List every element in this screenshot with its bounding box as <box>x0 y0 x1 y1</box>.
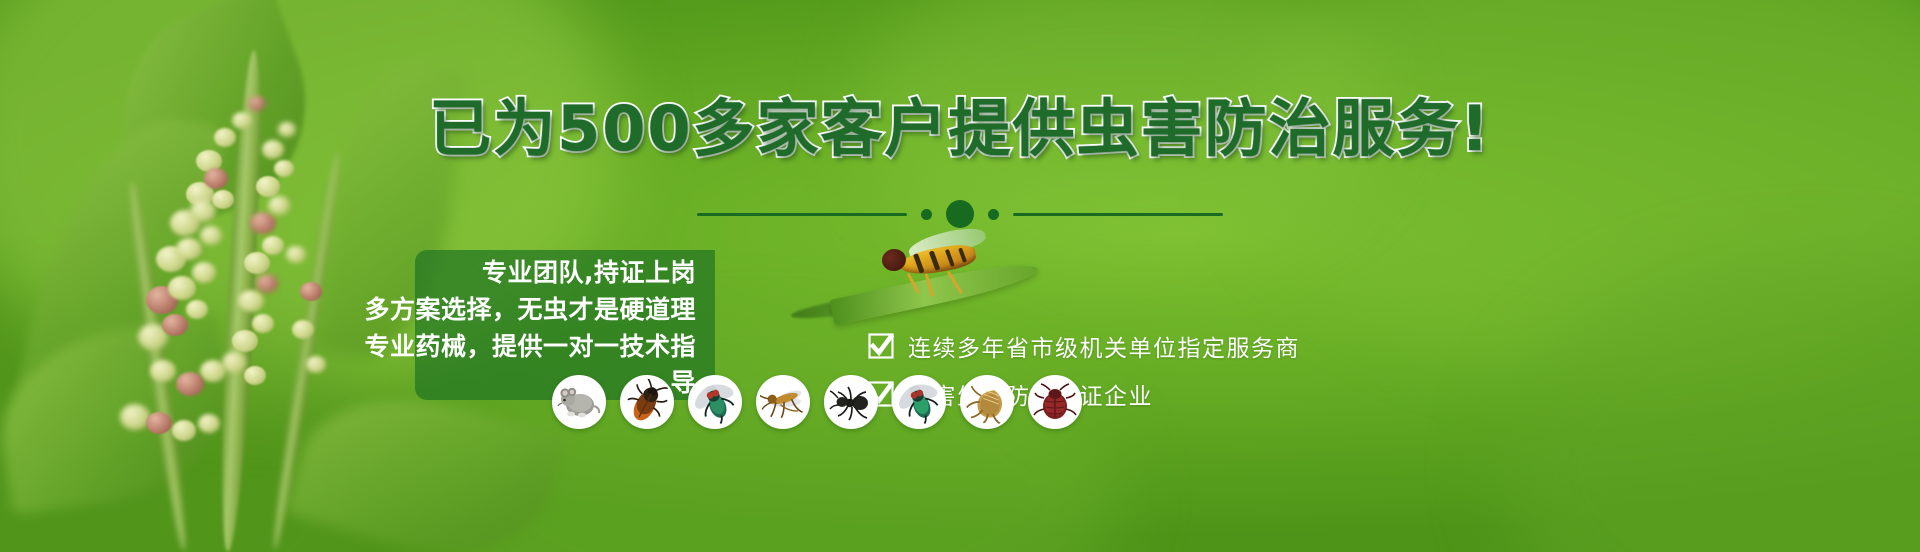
decorative-dot-medium <box>946 200 974 228</box>
divider-rule-right <box>1013 213 1223 216</box>
checkbox-checked-icon <box>868 333 894 359</box>
flower-bud <box>222 352 246 373</box>
benefit-label: 连续多年省市级机关单位指定服务商 <box>908 329 1300 363</box>
flower-bud <box>256 176 280 197</box>
headline-text: 已为500多家客户提供虫害防治服务! <box>429 92 1491 165</box>
decorative-dot-small <box>921 209 932 220</box>
mouse-icon[interactable] <box>552 375 606 429</box>
pest-icon-row <box>552 375 1082 429</box>
flower-bud <box>204 168 228 189</box>
flower-bud <box>232 330 258 352</box>
flower-bud <box>286 246 306 263</box>
flower-bud <box>192 262 216 283</box>
flower-bud <box>176 372 204 396</box>
flower-bud <box>198 414 220 433</box>
bedbug-icon[interactable] <box>1028 375 1082 429</box>
feature-line-2: 多方案选择，无虫才是硬道理 <box>340 290 696 326</box>
flower-bud <box>244 252 270 274</box>
mosquito-icon[interactable] <box>756 375 810 429</box>
flower-bud <box>306 356 326 373</box>
fly-green-icon[interactable] <box>892 375 946 429</box>
page-title: 已为500多家客户提供虫害防治服务! <box>0 78 1920 168</box>
decorative-dot-small <box>988 209 999 220</box>
flower-bud <box>200 226 222 245</box>
flower-bud <box>244 366 266 385</box>
list-item: 连续多年省市级机关单位指定服务商 <box>868 322 1428 370</box>
flower-bud <box>172 420 196 441</box>
flower-bud <box>256 274 278 293</box>
flower-bud <box>262 236 284 255</box>
feature-line-1: 专业团队,持证上岗 <box>340 253 696 289</box>
fly-icon[interactable] <box>688 375 742 429</box>
hoverfly-on-leaf-photo <box>830 230 1050 330</box>
flower-bud <box>300 282 322 301</box>
promo-banner: 已为500多家客户提供虫害防治服务! 专业团队,持证上岗 多方案选择，无虫才是硬… <box>0 0 1920 552</box>
flower-bud <box>238 290 264 312</box>
flea-icon[interactable] <box>960 375 1014 429</box>
background-foliage-blob <box>1250 0 1920 370</box>
decorative-divider <box>0 200 1920 228</box>
background-foliage-blob <box>1500 260 1920 552</box>
flower-bud <box>168 276 196 300</box>
cockroach-icon[interactable] <box>620 375 674 429</box>
flower-bud <box>252 314 274 333</box>
flower-bud <box>292 320 314 339</box>
ant-icon[interactable] <box>824 375 878 429</box>
flower-bud <box>186 300 208 319</box>
divider-rule-left <box>697 213 907 216</box>
